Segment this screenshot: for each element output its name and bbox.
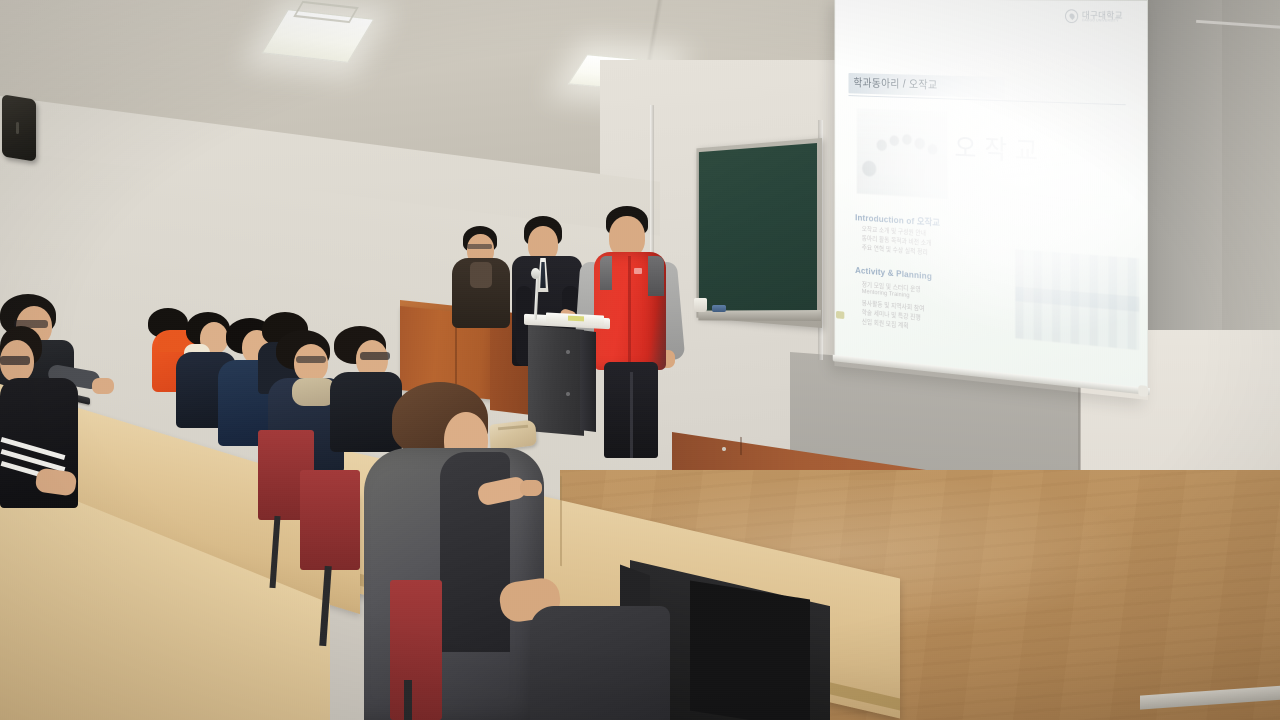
vest-shoulder-panel xyxy=(648,256,664,296)
vest-logo-icon xyxy=(634,268,642,274)
notes-highlight xyxy=(568,316,584,322)
presenter-scarf xyxy=(470,262,492,288)
student-lap xyxy=(530,606,670,720)
university-logo: 대구대학교 DAEGU UNIVERSITY xyxy=(1065,6,1135,26)
student-head xyxy=(294,344,328,382)
wall-speaker-icon xyxy=(2,94,36,161)
glasses-icon xyxy=(467,244,492,249)
chair-leg xyxy=(404,680,412,720)
eraser-icon xyxy=(712,305,726,312)
slide-big-title: 오작교 xyxy=(954,127,1046,169)
glasses-icon xyxy=(360,352,390,360)
speaker-led-icon xyxy=(16,122,19,134)
student-dark-coat xyxy=(330,372,402,452)
classroom-presentation-photo: 대구대학교 DAEGU UNIVERSITY 학과동아리 / 오작교 오작교 I… xyxy=(0,0,1280,720)
screen-clip-icon xyxy=(836,311,844,319)
projection-screen: 대구대학교 DAEGU UNIVERSITY 학과동아리 / 오작교 오작교 I… xyxy=(834,0,1148,400)
table-leg xyxy=(690,580,810,720)
student-fingers xyxy=(520,480,542,496)
lectern-side xyxy=(580,330,596,432)
chair xyxy=(390,580,442,720)
glasses-icon xyxy=(0,356,30,365)
stage-platform-screw xyxy=(722,447,726,451)
lectern-bolt xyxy=(566,350,570,354)
vest-shoulder-panel xyxy=(600,256,612,290)
chalk-cup-icon xyxy=(694,298,707,312)
chair xyxy=(300,470,360,570)
slide-group-photo xyxy=(857,108,948,199)
table-seam xyxy=(560,476,562,566)
stage-platform-seam xyxy=(740,437,742,455)
projection-screen-surface: 대구대학교 DAEGU UNIVERSITY 학과동아리 / 오작교 오작교 I… xyxy=(834,0,1148,392)
microphone-icon xyxy=(531,268,540,279)
chalkboard-surface xyxy=(699,143,817,321)
screen-pull-knob xyxy=(1138,385,1148,397)
lectern-bolt xyxy=(566,392,570,396)
trouser-seam xyxy=(630,372,633,458)
student-hand xyxy=(92,378,114,394)
logo-subtitle: DAEGU UNIVERSITY xyxy=(1082,18,1119,22)
chalkboard xyxy=(672,138,822,328)
vest-zipper xyxy=(628,256,631,366)
glasses-icon xyxy=(296,356,326,363)
lectern-body xyxy=(528,325,584,436)
slide-photo-secondary xyxy=(1015,249,1139,350)
